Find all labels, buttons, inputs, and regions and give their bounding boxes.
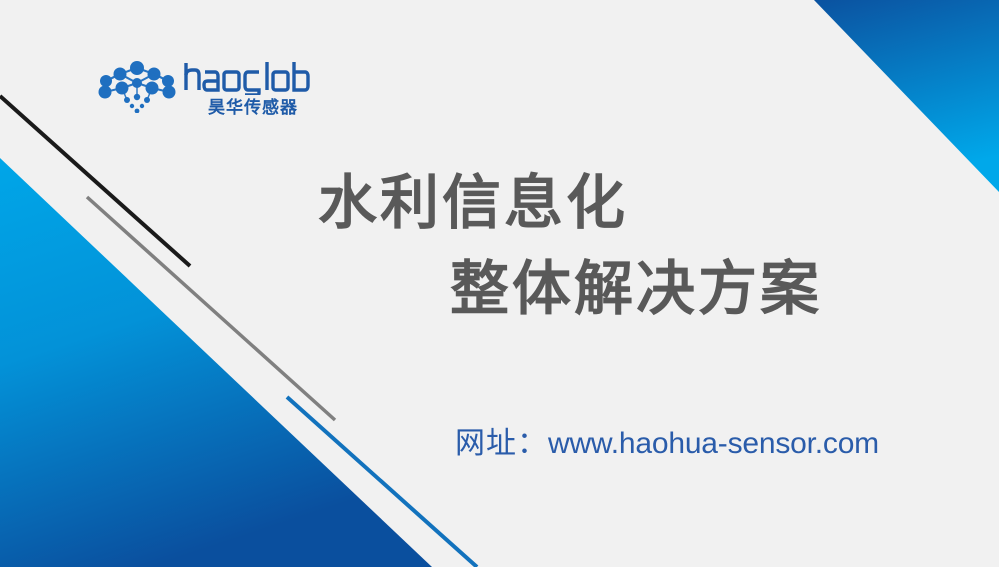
company-logo: 昊华传感器 xyxy=(96,57,311,123)
title-line-1: 水利信息化 xyxy=(318,160,920,246)
haoglobe-wordmark xyxy=(183,59,311,95)
website-line: 网址：www.haohua-sensor.com xyxy=(455,418,879,462)
blue-diagonal-line xyxy=(287,397,477,567)
logo-subtitle: 昊华传感器 xyxy=(195,97,311,119)
network-nodes-logo-icon xyxy=(96,61,178,113)
page-title: 水利信息化 整体解决方案 xyxy=(300,160,920,332)
presentation-title-slide: 昊华传感器 水利信息化 整体解决方案 网址：www.haohua-sensor.… xyxy=(0,0,999,567)
title-line-2: 整体解决方案 xyxy=(450,246,920,332)
gray-diagonal-line xyxy=(87,197,335,420)
website-url[interactable]: www.haohua-sensor.com xyxy=(548,427,879,460)
website-label: 网址： xyxy=(455,426,548,461)
